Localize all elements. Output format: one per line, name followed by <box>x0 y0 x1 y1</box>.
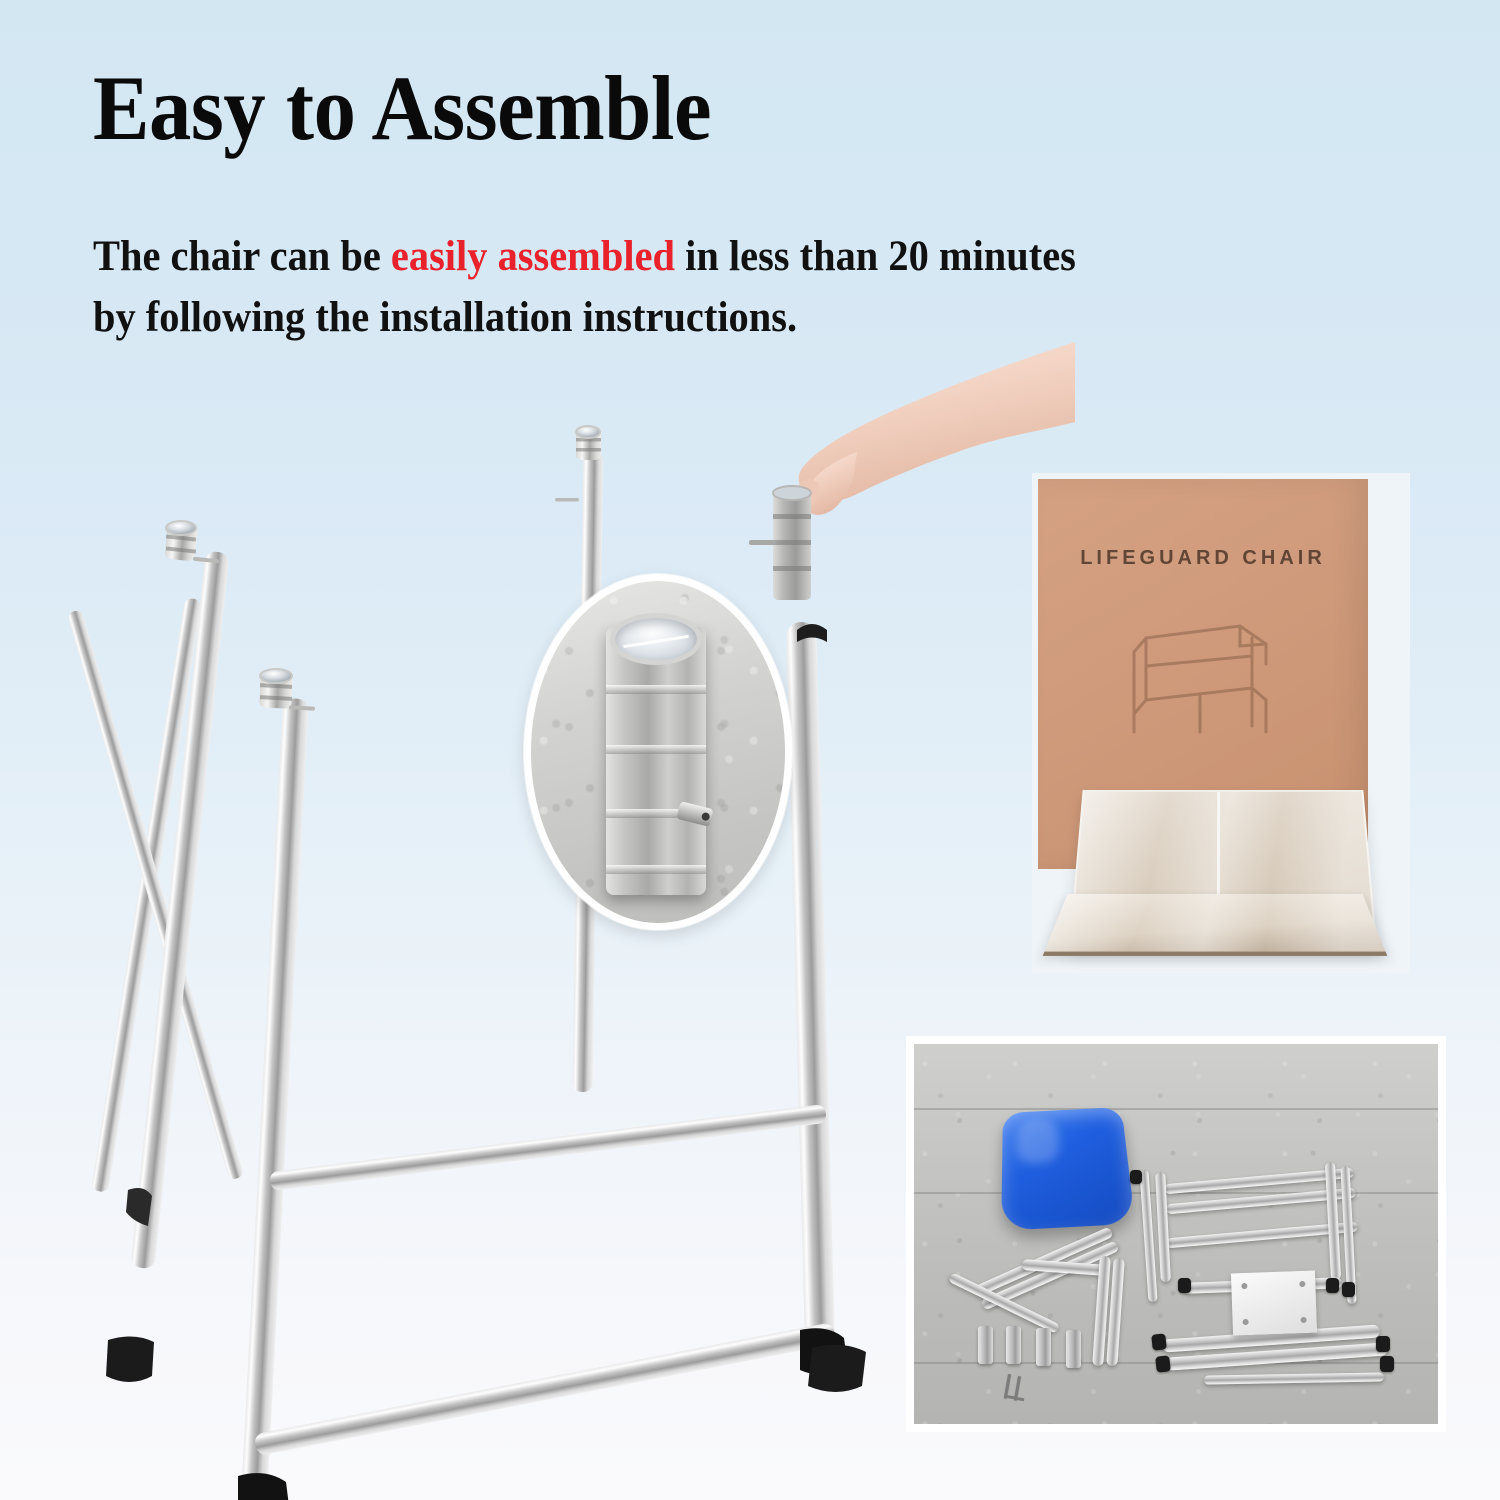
cross-rail-upper <box>269 1104 827 1191</box>
foot-cap <box>1130 1170 1142 1184</box>
body-copy-part2: in less than 20 minutes <box>675 233 1076 280</box>
connector-rib <box>606 685 706 694</box>
cardboard-carton: LIFEGUARD CHAIR <box>1038 479 1368 869</box>
connector-sleeve <box>1036 1328 1051 1366</box>
hand-holding-connector <box>745 352 1075 582</box>
connector-sleeve <box>978 1326 993 1364</box>
wrapped-flat-pack-base <box>1043 894 1388 956</box>
connector-sleeve <box>1066 1330 1081 1368</box>
foot-cap <box>1178 1278 1191 1293</box>
connector-body <box>606 627 706 895</box>
product-infographic: Easy to Assemble The chair can be easily… <box>0 0 1500 1500</box>
blue-seat-shell <box>1001 1107 1135 1231</box>
brace-notch <box>126 1188 152 1226</box>
chair-line-drawing-icon <box>1100 604 1300 739</box>
wrap-sheen <box>1044 894 1385 952</box>
connector-detail-inset <box>524 574 792 930</box>
concrete-seam <box>914 1108 1438 1110</box>
hand-svg <box>745 352 1075 582</box>
upright-front-left <box>241 669 315 1498</box>
body-copy-part1: The chair can be <box>93 233 391 280</box>
foot-cap <box>1380 1356 1394 1372</box>
connector-socket-opening <box>610 613 702 665</box>
foot-cap <box>1151 1333 1167 1350</box>
body-copy-highlight: easily assembled <box>391 233 675 280</box>
foot-cap <box>1376 1336 1390 1352</box>
tube-connector-closeup <box>606 627 706 895</box>
carton-label: LIFEGUARD CHAIR <box>1038 547 1368 570</box>
connector-rib <box>606 865 706 874</box>
joint-bracket-left <box>238 1473 290 1500</box>
foot-cap <box>1155 1355 1171 1372</box>
connector-sleeve <box>1006 1326 1021 1364</box>
cross-rail-lower <box>253 1322 836 1456</box>
foot-cap-front-right <box>808 1345 866 1392</box>
foot-cap <box>1326 1278 1339 1293</box>
connector-rib <box>606 745 706 754</box>
foot-cap-back-left <box>106 1336 154 1382</box>
page-title: Easy to Assemble <box>93 62 711 154</box>
parts-ground <box>914 1044 1438 1424</box>
parts-layout-photo <box>906 1036 1446 1432</box>
mounting-plate <box>1231 1271 1317 1336</box>
foot-cap <box>1342 1282 1355 1297</box>
packaging-photo: LIFEGUARD CHAIR <box>1032 473 1410 973</box>
upright-front-right <box>786 622 836 1383</box>
